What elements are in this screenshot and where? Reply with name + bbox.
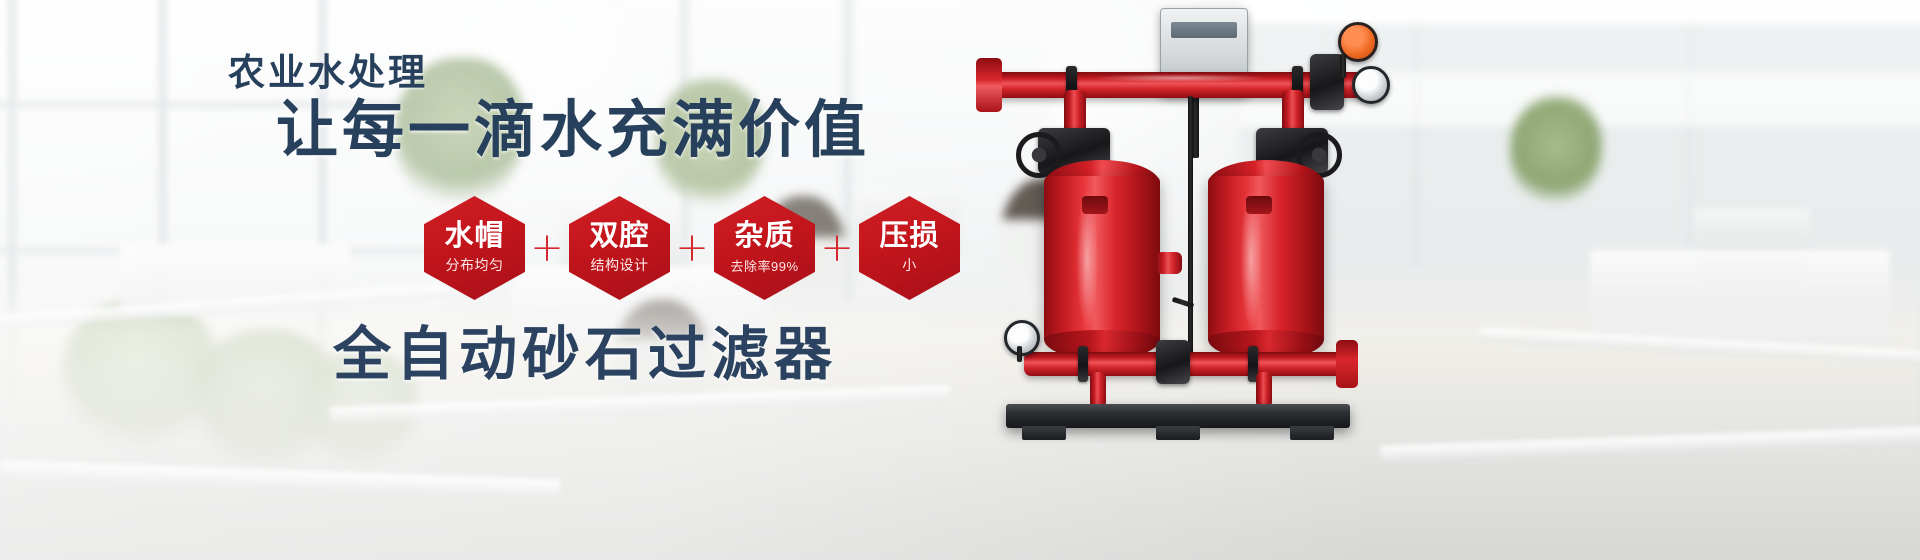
feature-hex-row: 水帽 分布均匀 + 双腔 结构设计 + 杂质 去除率99% + 压损 小 xyxy=(424,196,960,300)
feature-hex-badge[interactable]: 杂质 去除率99% xyxy=(714,196,815,300)
feature-desc: 结构设计 xyxy=(591,255,649,275)
relief-valve-body xyxy=(1310,54,1344,110)
outlet-valve-center xyxy=(1156,340,1190,384)
control-box-display xyxy=(1171,22,1237,38)
tank-right-manway xyxy=(1246,196,1272,214)
base-foot-right xyxy=(1290,426,1334,440)
outlet-flange-left xyxy=(1078,346,1088,382)
inlet-bell-mouth xyxy=(976,58,1002,112)
feature-hex-badge[interactable]: 压损 小 xyxy=(859,196,960,300)
outlet-bell-mouth xyxy=(1336,340,1358,388)
tank-left-side-nozzle xyxy=(1156,252,1182,274)
feature-title: 双腔 xyxy=(589,221,649,251)
plus-icon: + xyxy=(670,228,714,268)
feature-item-1: 水帽 分布均匀 + xyxy=(424,196,569,300)
eyebrow-label: 农业水处理 xyxy=(228,42,428,96)
base-foot-left xyxy=(1022,426,1066,440)
control-cable xyxy=(1188,96,1193,368)
pressure-gauge-top xyxy=(1352,66,1390,104)
plus-icon: + xyxy=(525,228,569,268)
steel-base-frame xyxy=(1006,404,1350,428)
feature-item-3: 杂质 去除率99% + xyxy=(714,196,859,300)
feature-desc: 去除率99% xyxy=(730,256,798,275)
product-image-sand-filter: BANGJIA xyxy=(960,0,1520,560)
pressure-gauge-bottom xyxy=(1004,320,1040,356)
feature-title: 水帽 xyxy=(444,221,504,251)
tank-left-manway xyxy=(1082,196,1108,214)
tank-left-leg xyxy=(1090,372,1106,408)
feature-item-2: 双腔 结构设计 + xyxy=(569,196,714,300)
feature-title: 杂质 xyxy=(734,221,794,251)
product-title: 全自动砂石过滤器 xyxy=(333,326,837,384)
feature-hex-badge[interactable]: 水帽 分布均匀 xyxy=(424,196,525,300)
gauge-bottom-stem xyxy=(1017,346,1022,362)
feature-hex-badge[interactable]: 双腔 结构设计 xyxy=(569,196,670,300)
tank-right-leg xyxy=(1256,372,1272,408)
promo-banner: 农业水处理 让每一滴水充满价值 全自动砂石过滤器 水帽 分布均匀 + 双腔 结构… xyxy=(0,0,1920,560)
feature-desc: 小 xyxy=(902,255,917,275)
plus-icon: + xyxy=(815,228,859,268)
base-foot-center xyxy=(1156,426,1200,440)
feature-item-4: 压损 小 xyxy=(859,196,960,300)
feature-title: 压损 xyxy=(879,221,939,251)
headline: 让每一滴水充满价值 xyxy=(276,100,870,162)
feature-desc: 分布均匀 xyxy=(446,255,504,275)
manifold-stub-right xyxy=(1340,54,1346,78)
